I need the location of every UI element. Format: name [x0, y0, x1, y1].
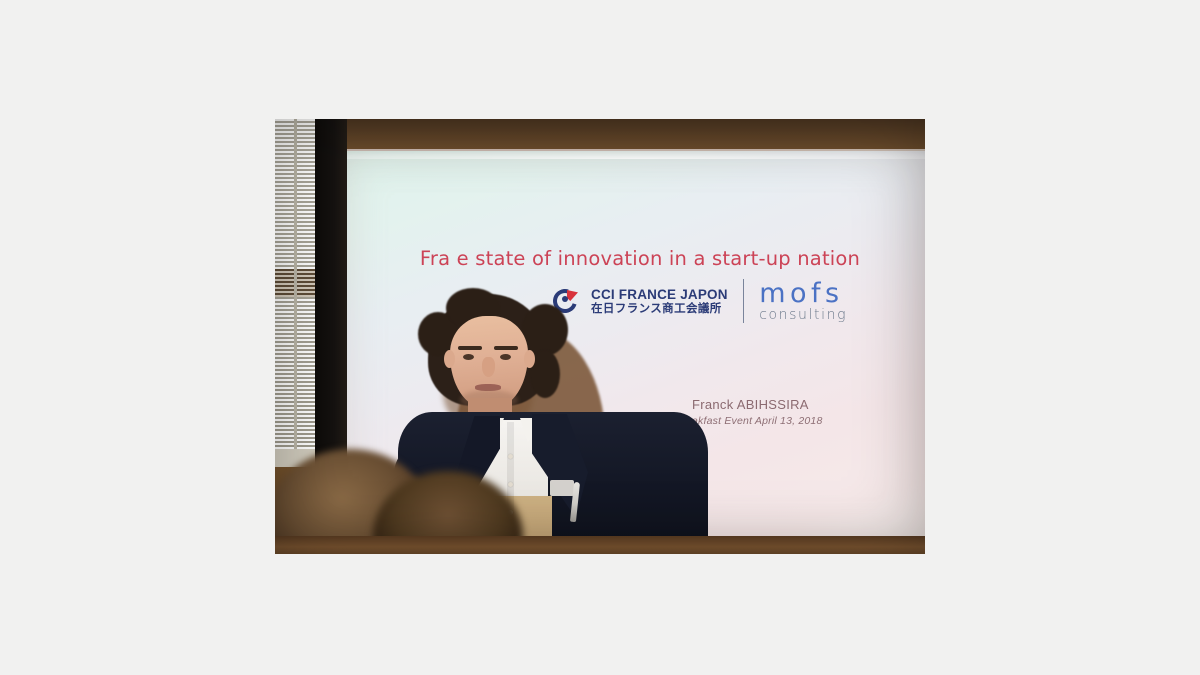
window-mullion [294, 119, 297, 467]
slide-title: Fra e state of innovation in a start-up … [367, 247, 913, 270]
presenter-hair-curl-right [522, 304, 568, 356]
presenter-eyebrow-right [494, 346, 518, 350]
presenter-ear-left [444, 350, 455, 368]
presenter-eyebrow-left [458, 346, 482, 350]
screenshot-canvas: Fra e state of innovation in a start-up … [0, 0, 1200, 675]
presenter-ear-right [524, 350, 535, 368]
dark-pillar [315, 119, 347, 479]
presenter-nose [482, 357, 495, 377]
presenter-shirt-button-1 [508, 454, 513, 459]
mofs-logo-text: mofs consulting [759, 280, 847, 322]
photograph: Fra e state of innovation in a start-up … [275, 119, 925, 554]
mofs-logo-line1: mofs [759, 280, 847, 307]
window-with-blinds [275, 119, 315, 467]
presenter-eye-left [463, 354, 474, 360]
lower-wall-strip [275, 536, 925, 554]
presenter-pocket [550, 480, 574, 496]
presenter-eye-right [500, 354, 511, 360]
mofs-logo-line2: consulting [759, 308, 847, 322]
presenter-shirt-button-2 [508, 482, 513, 487]
logo-divider [743, 279, 745, 323]
